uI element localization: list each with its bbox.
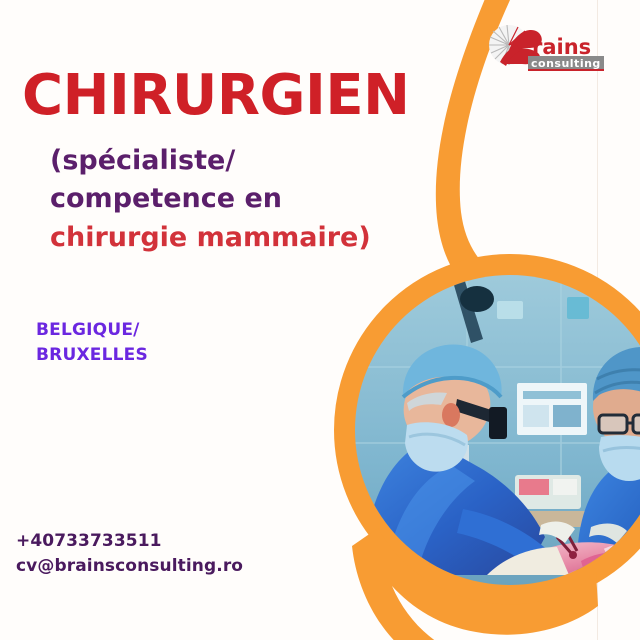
location-city: BRUXELLES [36,343,148,368]
brains-consulting-logo: rains consulting [484,22,608,74]
logo-tagline: consulting [531,57,601,70]
location-country: BELGIQUE/ [36,318,148,343]
job-specialty: (spécialiste/ competence en chirurgie ma… [50,142,380,257]
specialty-line-2: competence en [50,180,380,218]
surgery-photo [355,275,640,585]
recruitment-poster: rains consulting CHIRURGIEN (spécialiste… [0,0,640,640]
page-title: CHIRURGIEN [22,68,409,124]
logo-wordmark: rains [532,35,591,59]
specialty-line-3: chirurgie mammaire) [50,219,380,257]
logo-mark: rains consulting [484,22,608,74]
job-location: BELGIQUE/ BRUXELLES [36,318,148,367]
contact-phone[interactable]: +40733733511 [16,529,243,554]
surgery-photo-illustration [355,275,640,585]
contact-email[interactable]: cv@brainsconsulting.ro [16,554,243,579]
specialty-line-1: (spécialiste/ [50,142,380,180]
contact-block: +40733733511 cv@brainsconsulting.ro [16,529,243,578]
